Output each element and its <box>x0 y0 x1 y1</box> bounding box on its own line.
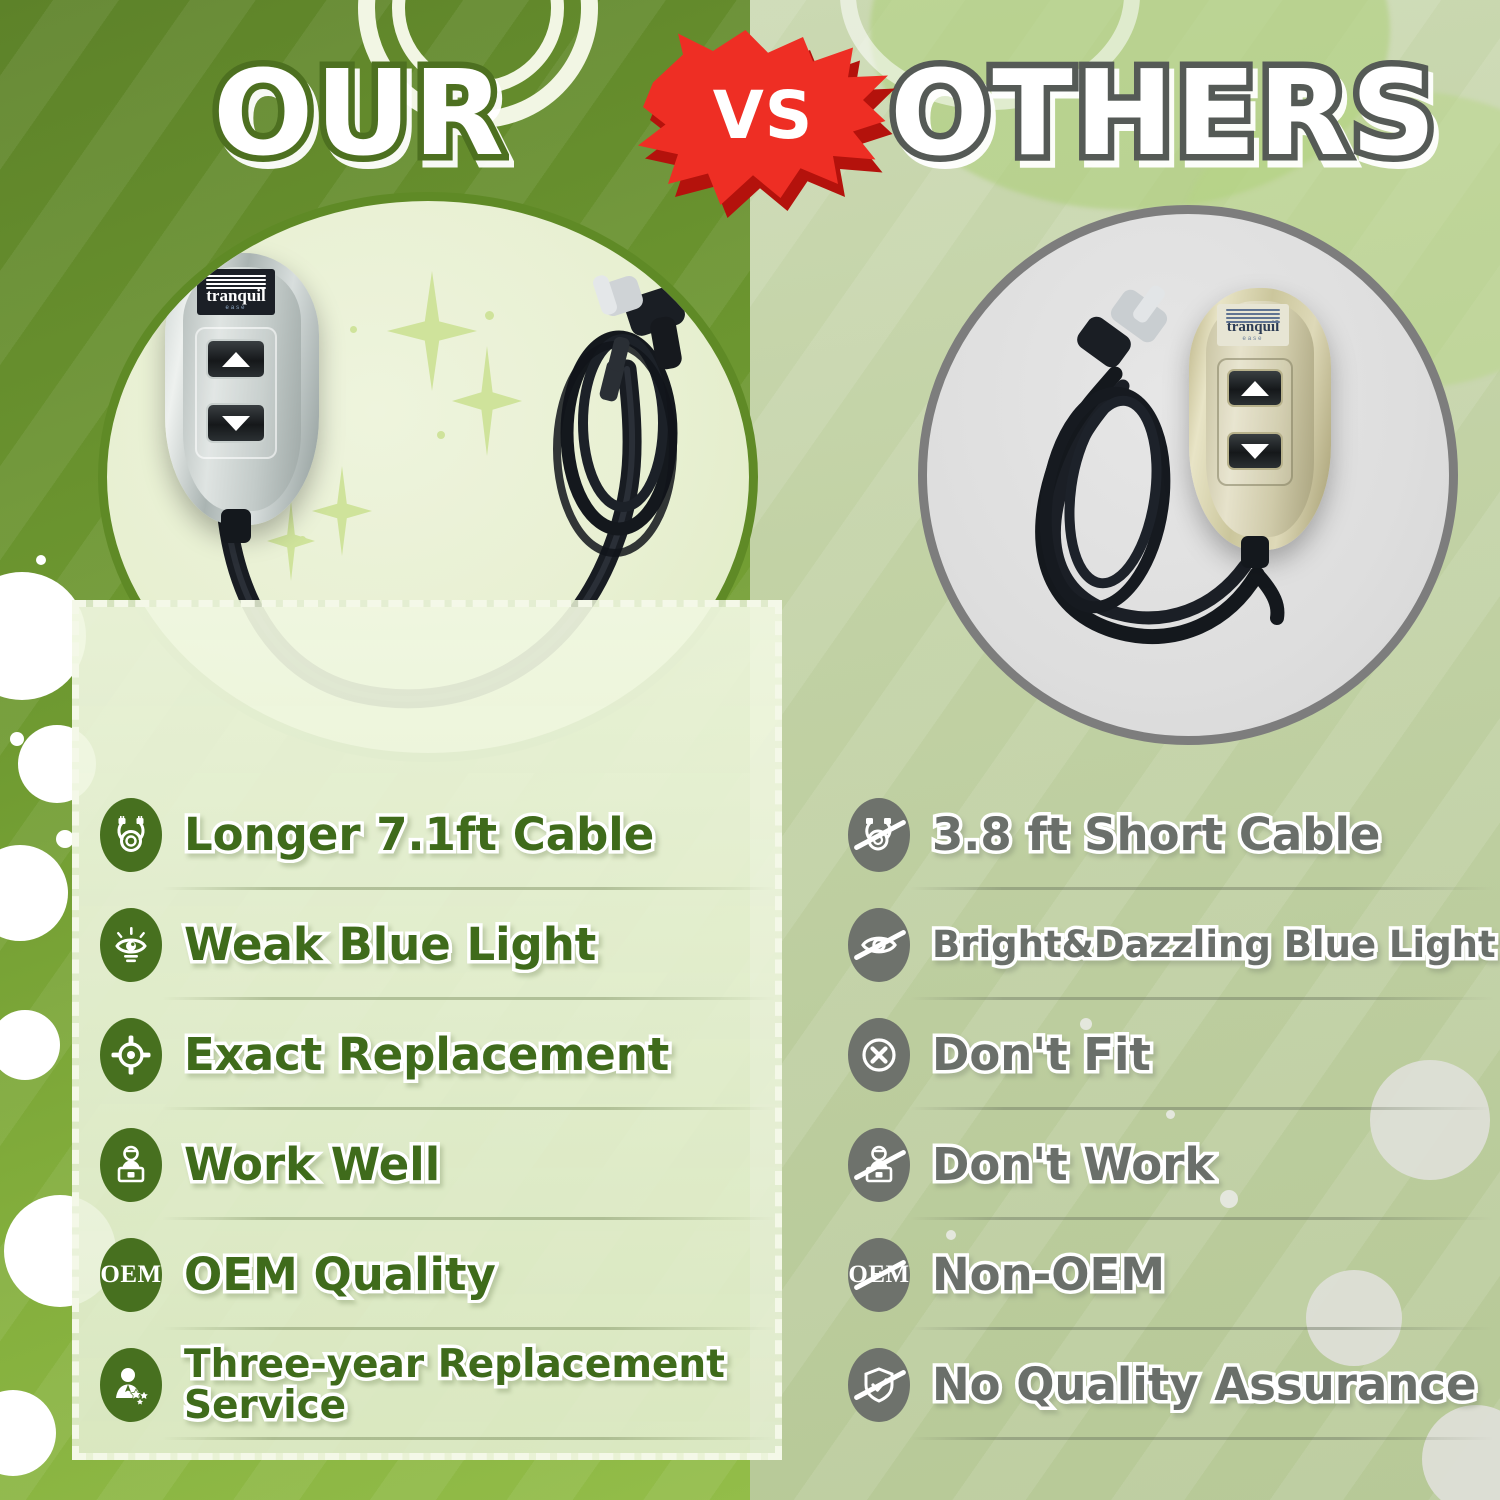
button-panel <box>1217 358 1293 486</box>
feature-row: Weak Blue Light <box>100 890 780 1000</box>
brand-logo-plate: tranquil ease <box>1217 304 1289 346</box>
cable-off-icon <box>848 798 910 872</box>
up-button[interactable] <box>1227 369 1283 407</box>
target-icon <box>100 1018 162 1092</box>
others-product-photo: tranquil ease <box>918 205 1458 745</box>
shield-off-icon <box>848 1348 910 1422</box>
eye-light-icon <box>100 908 162 982</box>
cable-strain-relief <box>1241 536 1269 568</box>
feature-label: No Quality Assurance <box>932 1361 1476 1409</box>
feature-row: No Quality Assurance <box>848 1330 1498 1440</box>
feature-row: OEM OEM Quality <box>100 1220 780 1330</box>
brand-sub: ease <box>225 305 246 311</box>
worker-icon <box>100 1128 162 1202</box>
up-button[interactable] <box>206 339 266 379</box>
feature-row: Three-year Replacement Service <box>100 1330 780 1440</box>
eye-off-icon <box>848 908 910 982</box>
feature-label: Three-year Replacement Service <box>184 1344 725 1426</box>
others-features-list: 3.8 ft Short Cable Bright&Dazzling Blue … <box>848 780 1498 1440</box>
feature-row: Exact Replacement <box>100 1000 780 1110</box>
bokeh-circle <box>10 732 24 746</box>
feature-row: Don't Work <box>848 1110 1498 1220</box>
bokeh-circle <box>0 1010 60 1080</box>
feature-row: Don't Fit <box>848 1000 1498 1110</box>
bokeh-circle <box>36 555 46 565</box>
feature-label: Work Well <box>184 1141 440 1189</box>
our-features-list: Longer 7.1ft Cable Weak Blue Light <box>100 780 780 1440</box>
our-handset-device: tranquil ease <box>165 253 319 525</box>
cable-icon <box>100 798 162 872</box>
our-cable-plug-icon <box>583 269 713 389</box>
feature-row: Longer 7.1ft Cable <box>100 780 780 890</box>
brand-name: tranquil <box>206 287 266 304</box>
up-arrow-icon <box>1241 381 1269 396</box>
feature-label: Don't Work <box>932 1141 1214 1189</box>
x-circle-icon <box>848 1018 910 1092</box>
service-star-icon <box>100 1348 162 1422</box>
down-arrow-icon <box>222 416 250 431</box>
feature-label: OEM Quality <box>184 1251 496 1299</box>
feature-row: 3.8 ft Short Cable <box>848 780 1498 890</box>
worker-off-icon <box>848 1128 910 1202</box>
feature-divider <box>910 1437 1494 1440</box>
feature-label: 3.8 ft Short Cable <box>932 811 1380 859</box>
oem-icon: OEM <box>100 1238 162 1312</box>
oem-off-icon: OEM <box>848 1238 910 1312</box>
vs-label: VS <box>638 30 888 205</box>
feature-row: Work Well <box>100 1110 780 1220</box>
wave-lines-icon <box>1226 308 1281 320</box>
others-handset-device: tranquil ease <box>1189 288 1331 550</box>
comparison-infographic: tranquil ease <box>0 0 1500 1500</box>
feature-label: Bright&Dazzling Blue Light <box>932 925 1496 965</box>
bokeh-circle <box>0 1390 56 1476</box>
feature-label: Longer 7.1ft Cable <box>184 811 654 859</box>
feature-row: OEM Non-OEM <box>848 1220 1498 1330</box>
up-arrow-icon <box>222 352 250 367</box>
down-arrow-icon <box>1241 444 1269 459</box>
vs-badge: VS <box>638 30 888 205</box>
button-panel <box>195 327 277 459</box>
down-button[interactable] <box>1227 432 1283 470</box>
feature-label: Non-OEM <box>932 1251 1165 1299</box>
feature-row: Bright&Dazzling Blue Light <box>848 890 1498 1000</box>
bokeh-circle <box>0 845 68 941</box>
feature-divider <box>162 1437 776 1440</box>
cable-strain-relief <box>221 509 251 543</box>
feature-label: Exact Replacement <box>184 1031 669 1079</box>
wave-lines-icon <box>206 274 265 287</box>
feature-label: Don't Fit <box>932 1031 1151 1079</box>
feature-label: Weak Blue Light <box>184 921 596 969</box>
down-button[interactable] <box>206 403 266 443</box>
brand-sub: ease <box>1242 336 1263 342</box>
brand-logo-plate: tranquil ease <box>197 269 275 315</box>
oem-text: OEM <box>100 1261 161 1289</box>
